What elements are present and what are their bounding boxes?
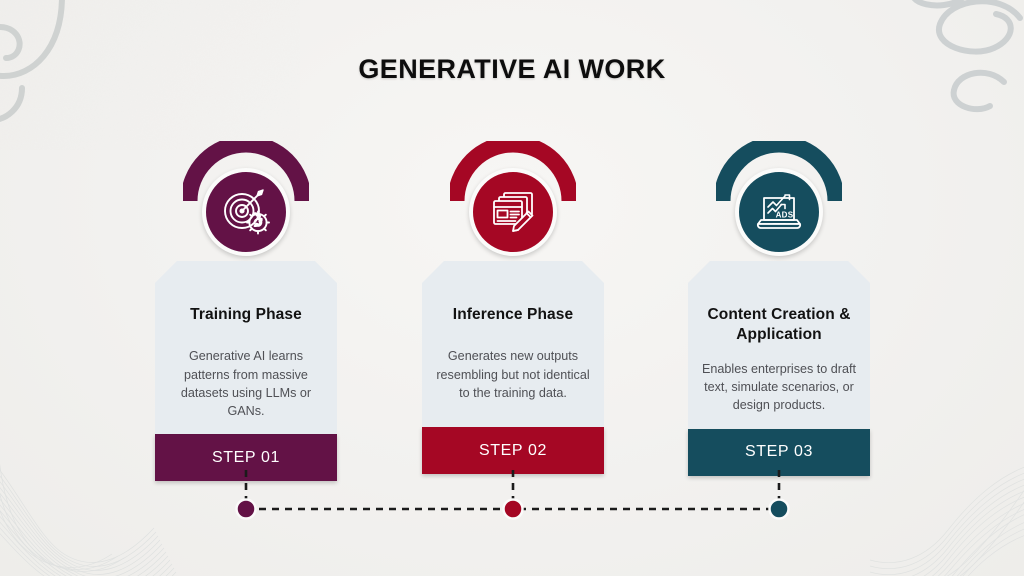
card-head bbox=[422, 141, 604, 271]
card-title: Training Phase bbox=[167, 305, 325, 325]
card-body: Inference Phase Generates new outputs re… bbox=[422, 261, 604, 427]
cards-container: Training Phase Generative AI learns patt… bbox=[0, 0, 1024, 576]
step-badge[interactable]: STEP 01 bbox=[155, 434, 337, 481]
card-inference-phase[interactable]: Inference Phase Generates new outputs re… bbox=[422, 141, 604, 474]
target-gear-icon bbox=[220, 186, 272, 238]
card-description: Enables enterprises to draft text, simul… bbox=[700, 360, 858, 415]
step-badge[interactable]: STEP 03 bbox=[688, 429, 870, 476]
icon-circle: ADS bbox=[735, 168, 823, 256]
step-label: STEP 01 bbox=[212, 449, 280, 467]
card-description: Generates new outputs resembling but not… bbox=[434, 347, 592, 402]
card-training-phase[interactable]: Training Phase Generative AI learns patt… bbox=[155, 141, 337, 481]
svg-text:ADS: ADS bbox=[776, 211, 794, 220]
slide-canvas: GENERATIVE AI WORK bbox=[0, 0, 1024, 576]
icon-circle bbox=[469, 168, 557, 256]
card-body: Training Phase Generative AI learns patt… bbox=[155, 261, 337, 434]
card-content-creation[interactable]: ADS Content Creation & Application Enabl… bbox=[688, 141, 870, 476]
card-description: Generative AI learns patterns from massi… bbox=[167, 347, 325, 420]
step-badge[interactable]: STEP 02 bbox=[422, 427, 604, 474]
card-head bbox=[155, 141, 337, 271]
card-body: Content Creation & Application Enables e… bbox=[688, 261, 870, 429]
card-head: ADS bbox=[688, 141, 870, 271]
card-title: Content Creation & Application bbox=[700, 305, 858, 346]
card-title: Inference Phase bbox=[434, 305, 592, 325]
step-label: STEP 02 bbox=[479, 442, 547, 460]
documents-pen-icon bbox=[488, 187, 538, 237]
icon-circle bbox=[202, 168, 290, 256]
step-label: STEP 03 bbox=[745, 443, 813, 461]
laptop-ads-chart-icon: ADS bbox=[753, 186, 805, 238]
